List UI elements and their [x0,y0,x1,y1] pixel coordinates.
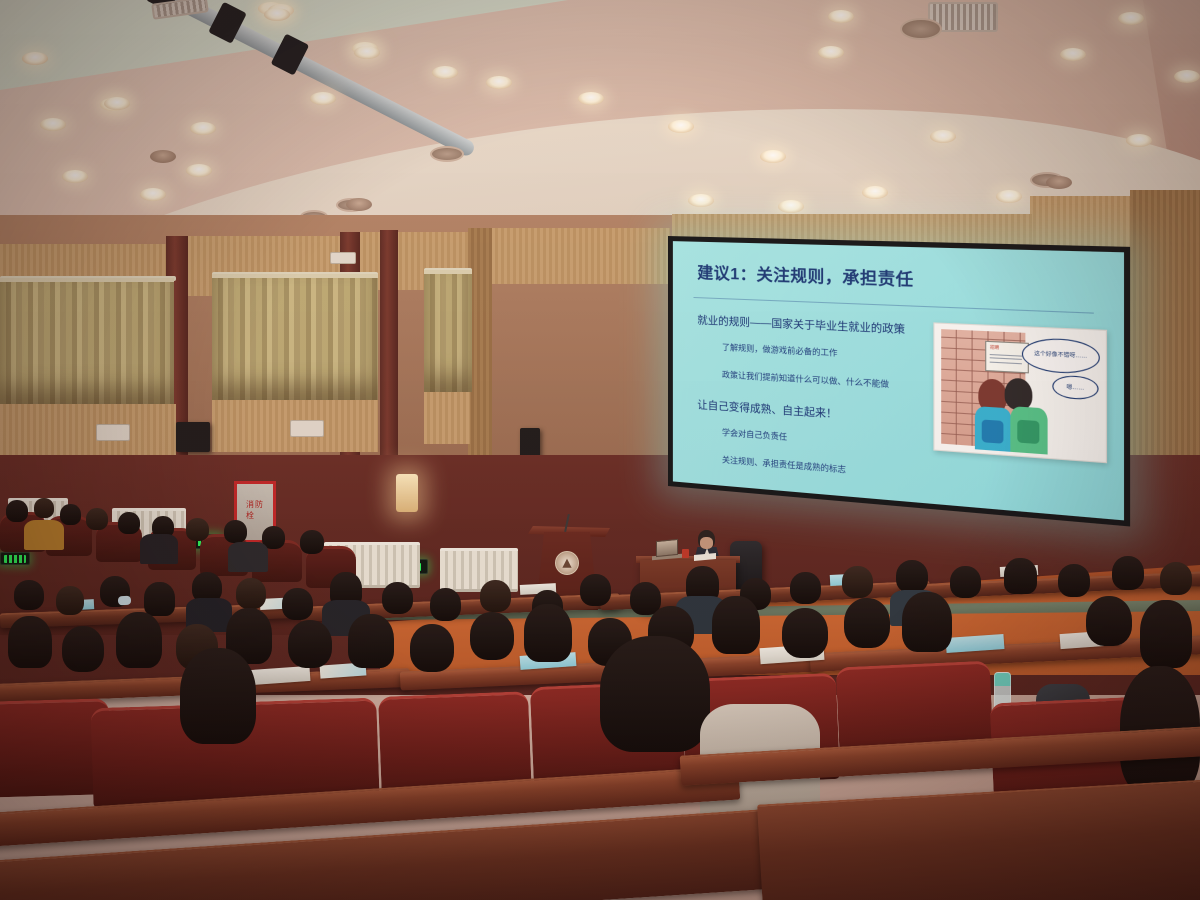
slide-bullet-6: 关注规则、承担责任是成熟的标志 [722,454,846,475]
ceiling-light-off [1046,176,1072,189]
ceiling-light [578,92,604,105]
speech-bubble-2: 嗯…… [1053,375,1098,401]
face-mask [118,596,132,606]
slide-bullet-5: 学会对自己负责任 [722,427,787,443]
wall-wood-panel [424,392,470,444]
ceiling-light [310,92,336,105]
window-curtain [212,274,378,400]
ceiling-light-off [150,150,176,163]
cup [682,549,689,558]
presentation-slide: 建议1：关注规则，承担责任 就业的规则——国家关于毕业生就业的政策 了解规则，做… [673,241,1124,520]
university-emblem-icon [555,551,579,575]
ceiling-light [688,194,714,207]
ceiling-light-off [346,198,372,211]
ceiling-light [432,66,458,79]
smoke-detector-icon [430,146,464,162]
ceiling-light [186,164,212,177]
ceiling-light [862,186,888,199]
slide-divider [693,297,1094,314]
wall-wood-panel [492,228,670,284]
wall-wood-panel [0,404,176,456]
ceiling-light [1174,70,1200,83]
ceiling-light [22,52,48,65]
laptop-icon[interactable] [656,539,678,557]
slide-title: 建议1：关注规则，承担责任 [697,259,913,291]
slide-bullet-4: 让自己变得成熟、自主起来！ [697,396,837,421]
wall-power-outlet[interactable] [96,424,130,441]
exit-sign-far-left [0,552,30,565]
wall-sconce-light [396,474,418,512]
lecture-hall-photo: 消防栓 建议1：关注规则，承担责任 就业的规则——国家关于毕业生就业的政策 了解… [0,0,1200,900]
ceiling-light [818,46,844,59]
ceiling [0,0,1200,250]
speech-bubble-1: 这个好像不错呀…… [1022,337,1100,375]
ceiling-light [1118,12,1144,25]
ceiling-light [668,120,694,133]
window-curtain [0,278,174,404]
screen-frame: 建议1：关注规则，承担责任 就业的规则——国家关于毕业生就业的政策 了解规则，做… [668,236,1130,527]
ceiling-light [264,8,290,21]
notice-text: 招聘 [990,344,999,351]
wall-pillar [380,230,398,464]
ceiling-light [778,200,804,213]
window-curtain [424,270,472,392]
smoke-detector-icon [900,18,942,40]
slide-illustration: 招聘 这个好像不错呀…… 嗯…… [934,322,1107,463]
slide-bullet-2: 了解规则，做游戏前必备的工作 [722,342,837,359]
slide-bullet-3: 政策让我们提前知道什么可以做、什么不能做 [722,369,889,390]
ceiling-light [930,130,956,143]
ceiling-light [828,10,854,23]
ceiling-light [354,46,380,59]
ceiling-light [996,190,1022,203]
wall-loudspeaker [176,422,210,452]
ceiling-light [190,122,216,135]
ceiling-light [40,118,66,131]
ceiling-light [104,97,130,110]
backpack-green-graphic [1017,419,1039,444]
projection-screen[interactable]: 建议1：关注规则，承担责任 就业的规则——国家关于毕业生就业的政策 了解规则，做… [668,236,1130,527]
ceiling-light [140,188,166,201]
ceiling-light [1060,48,1086,61]
fire-cabinet-label: 消防栓 [246,499,264,521]
backpack-blue-graphic [981,419,1003,443]
ceiling-light [760,150,786,163]
ceiling-light [486,76,512,89]
wall-power-outlet[interactable] [330,252,356,264]
wall-power-outlet[interactable] [290,420,324,437]
wall-wood-panel [1130,190,1200,470]
slide-bullet-1: 就业的规则——国家关于毕业生就业的政策 [697,312,905,337]
ceiling-light [1126,134,1152,147]
ceiling-light [62,170,88,183]
